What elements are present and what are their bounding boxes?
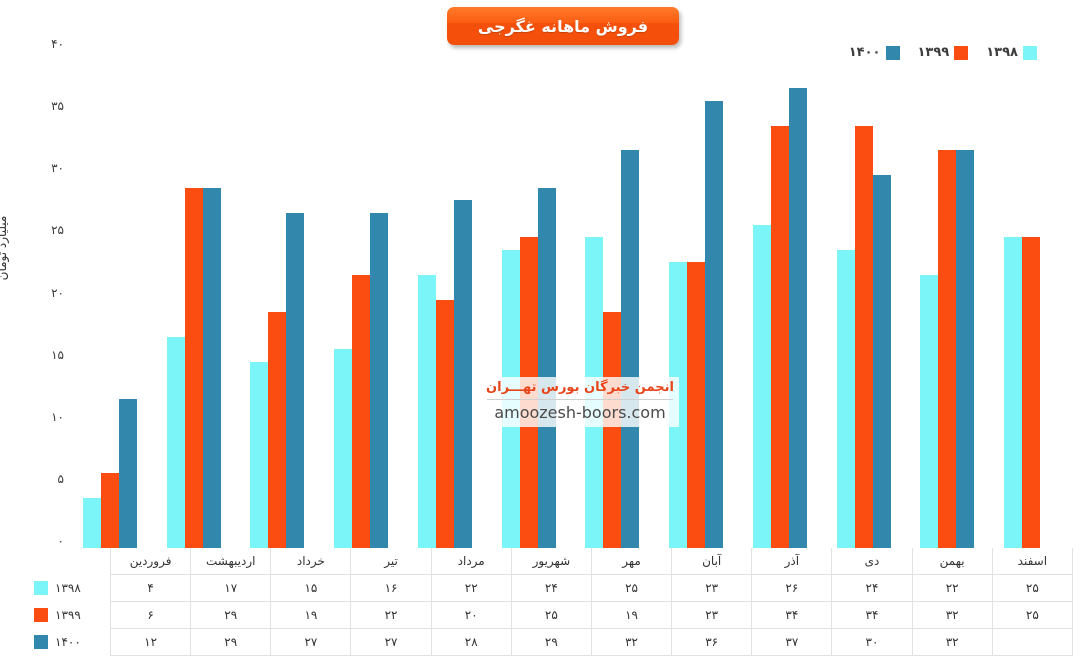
- square-swatch-icon: [34, 608, 48, 622]
- square-swatch-icon: [34, 635, 48, 649]
- bar-۱۳۹۹-مرداد[interactable]: [436, 300, 454, 549]
- page-title: فروش ماهانه غگرجی: [478, 17, 648, 36]
- y-axis: ۴۰۳۵۳۰۲۵۲۰۱۵۱۰۵۰: [20, 44, 68, 548]
- table-cell: ۲۲: [912, 575, 992, 602]
- table-column-header: اردیبهشت: [191, 548, 271, 575]
- table-cell: ۱۶: [351, 575, 431, 602]
- y-axis-tick-label: ۴۰: [51, 37, 64, 51]
- bar-group: [403, 51, 487, 548]
- table-column-header: خرداد: [271, 548, 351, 575]
- table-row-legend: ۱۳۹۸: [22, 581, 110, 595]
- table-row: ۱۳۹۸۴۱۷۱۵۱۶۲۲۲۴۲۵۲۳۲۶۲۴۲۲۲۵: [22, 575, 1073, 602]
- bar-۱۳۹۹-اسفند[interactable]: [1022, 237, 1040, 548]
- table-row-legend: ۱۳۹۹: [22, 608, 110, 622]
- table-column-header: فروردین: [111, 548, 191, 575]
- watermark: انجمن خبرگان بورس تهـــران amoozesh-boor…: [481, 377, 679, 427]
- y-axis-tick-label: ۲۵: [51, 223, 64, 237]
- table-cell: ۲۹: [511, 629, 591, 656]
- bar-۱۳۹۸-بهمن[interactable]: [920, 275, 938, 548]
- table-cell: ۲۳: [672, 575, 752, 602]
- table-cell: ۲۹: [191, 629, 271, 656]
- bar-۱۳۹۹-بهمن[interactable]: [938, 150, 956, 548]
- table-cell: ۲۸: [431, 629, 511, 656]
- table-row-label-cell: ۱۳۹۹: [22, 602, 111, 629]
- table-cell: ۱۲: [111, 629, 191, 656]
- bar-۱۳۹۸-اسفند[interactable]: [1004, 237, 1022, 548]
- table-row-label: ۱۴۰۰: [55, 635, 81, 649]
- table-cell: ۳۴: [832, 602, 912, 629]
- table-cell: ۲۰: [431, 602, 511, 629]
- bar-۱۴۰۰-فروردین[interactable]: [119, 399, 137, 548]
- data-table-body: فروردیناردیبهشتخردادتیرمردادشهریورمهرآبا…: [22, 548, 1073, 656]
- table-cell: ۲۵: [992, 602, 1072, 629]
- table-cell: ۲۵: [992, 575, 1072, 602]
- table-row: ۱۴۰۰۱۲۲۹۲۷۲۷۲۸۲۹۳۲۳۶۳۷۳۰۳۲: [22, 629, 1073, 656]
- y-axis-title: میلیارد تومان: [0, 216, 9, 281]
- table-cell: ۱۵: [271, 575, 351, 602]
- bar-۱۳۹۸-تیر[interactable]: [334, 349, 352, 548]
- table-cell: ۳۶: [672, 629, 752, 656]
- bar-۱۳۹۸-دی[interactable]: [837, 250, 855, 548]
- table-cell: ۲۲: [351, 602, 431, 629]
- table-cell: ۱۹: [591, 602, 671, 629]
- table-column-header: مهر: [591, 548, 671, 575]
- bar-group: [654, 51, 738, 548]
- bar-۱۴۰۰-مهر[interactable]: [621, 150, 639, 548]
- bar-group: [989, 51, 1073, 548]
- data-table: فروردیناردیبهشتخردادتیرمردادشهریورمهرآبا…: [22, 548, 1073, 656]
- table-cell: ۳۲: [591, 629, 671, 656]
- table-column-header: آذر: [752, 548, 832, 575]
- table-cell: ۳۰: [832, 629, 912, 656]
- bar-۱۴۰۰-مرداد[interactable]: [454, 200, 472, 548]
- table-cell: ۲۴: [511, 575, 591, 602]
- bar-۱۴۰۰-تیر[interactable]: [370, 213, 388, 548]
- bar-group: [571, 51, 655, 548]
- table-cell: ۶: [111, 602, 191, 629]
- bar-۱۳۹۹-دی[interactable]: [855, 126, 873, 548]
- bar-۱۳۹۸-فروردین[interactable]: [83, 498, 101, 548]
- table-cell: ۲۵: [591, 575, 671, 602]
- watermark-divider: [487, 399, 673, 400]
- bar-۱۴۰۰-آبان[interactable]: [705, 101, 723, 548]
- table-column-header: بهمن: [912, 548, 992, 575]
- table-cell: ۳۴: [752, 602, 832, 629]
- bar-۱۴۰۰-دی[interactable]: [873, 175, 891, 548]
- table-cell: ۲۷: [351, 629, 431, 656]
- bar-۱۳۹۹-آبان[interactable]: [687, 262, 705, 548]
- bar-۱۳۹۸-خرداد[interactable]: [250, 362, 268, 548]
- y-axis-tick-label: ۱۰: [51, 410, 64, 424]
- y-axis-tick-label: ۳۵: [51, 99, 64, 113]
- table-cell: ۱۹: [271, 602, 351, 629]
- chart-title-banner: فروش ماهانه غگرجی: [447, 7, 679, 45]
- y-axis-tick-label: ۳۰: [51, 161, 64, 175]
- table-column-header: دی: [832, 548, 912, 575]
- table-column-header: آبان: [672, 548, 752, 575]
- bar-۱۳۹۹-خرداد[interactable]: [268, 312, 286, 548]
- bar-group: [906, 51, 990, 548]
- bar-۱۴۰۰-شهریور[interactable]: [538, 188, 556, 548]
- bar-group: [152, 51, 236, 548]
- bar-group: [236, 51, 320, 548]
- bar-۱۳۹۹-آذر[interactable]: [771, 126, 789, 548]
- table-cell: [992, 629, 1072, 656]
- bar-group: [319, 51, 403, 548]
- table-row-label: ۱۳۹۸: [55, 581, 81, 595]
- bar-groups: [68, 51, 1073, 548]
- table-header-row: فروردیناردیبهشتخردادتیرمردادشهریورمهرآبا…: [22, 548, 1073, 575]
- y-axis-tick-label: ۱۵: [51, 348, 64, 362]
- table-cell: ۱۷: [191, 575, 271, 602]
- plot-area: [68, 51, 1073, 548]
- table-row-label-cell: ۱۳۹۸: [22, 575, 111, 602]
- table-cell: ۲۳: [672, 602, 752, 629]
- table-column-header: شهریور: [511, 548, 591, 575]
- table-row-label: ۱۳۹۹: [55, 608, 81, 622]
- bar-۱۴۰۰-آذر[interactable]: [789, 88, 807, 548]
- bar-group: [822, 51, 906, 548]
- bar-۱۳۹۸-اردیبهشت[interactable]: [167, 337, 185, 548]
- table-cell: ۴: [111, 575, 191, 602]
- table-cell: ۲۷: [271, 629, 351, 656]
- table-column-header: اسفند: [992, 548, 1072, 575]
- table-cell: ۲۶: [752, 575, 832, 602]
- table-cell: ۳۲: [912, 629, 992, 656]
- bar-۱۳۹۸-مرداد[interactable]: [418, 275, 436, 548]
- watermark-website-text: amoozesh-boors.com: [485, 403, 675, 422]
- bar-group: [68, 51, 152, 548]
- y-axis-tick-label: ۰: [58, 534, 64, 548]
- table-cell: ۳۷: [752, 629, 832, 656]
- table-row: ۱۳۹۹۶۲۹۱۹۲۲۲۰۲۵۱۹۲۳۳۴۳۴۳۲۲۵: [22, 602, 1073, 629]
- y-axis-tick-label: ۲۰: [51, 286, 64, 300]
- bar-۱۳۹۹-فروردین[interactable]: [101, 473, 119, 548]
- bar-۱۳۹۹-تیر[interactable]: [352, 275, 370, 548]
- watermark-persian-text: انجمن خبرگان بورس تهـــران: [485, 380, 675, 395]
- table-corner-cell: [22, 548, 111, 575]
- table-cell: ۲۲: [431, 575, 511, 602]
- table-cell: ۳۲: [912, 602, 992, 629]
- bar-۱۳۹۹-مهر[interactable]: [603, 312, 621, 548]
- table-column-header: تیر: [351, 548, 431, 575]
- bar-۱۴۰۰-بهمن[interactable]: [956, 150, 974, 548]
- table-row-legend: ۱۴۰۰: [22, 635, 110, 649]
- table-cell: ۲۵: [511, 602, 591, 629]
- y-axis-tick-label: ۵: [58, 472, 64, 486]
- table-cell: ۲۹: [191, 602, 271, 629]
- table-column-header: مرداد: [431, 548, 511, 575]
- bar-۱۳۹۸-آذر[interactable]: [753, 225, 771, 548]
- bar-group: [738, 51, 822, 548]
- bar-۱۳۹۹-اردیبهشت[interactable]: [185, 188, 203, 548]
- table-row-label-cell: ۱۴۰۰: [22, 629, 111, 656]
- bar-۱۴۰۰-خرداد[interactable]: [286, 213, 304, 548]
- bar-group: [487, 51, 571, 548]
- square-swatch-icon: [34, 581, 48, 595]
- bar-۱۴۰۰-اردیبهشت[interactable]: [203, 188, 221, 548]
- table-cell: ۲۴: [832, 575, 912, 602]
